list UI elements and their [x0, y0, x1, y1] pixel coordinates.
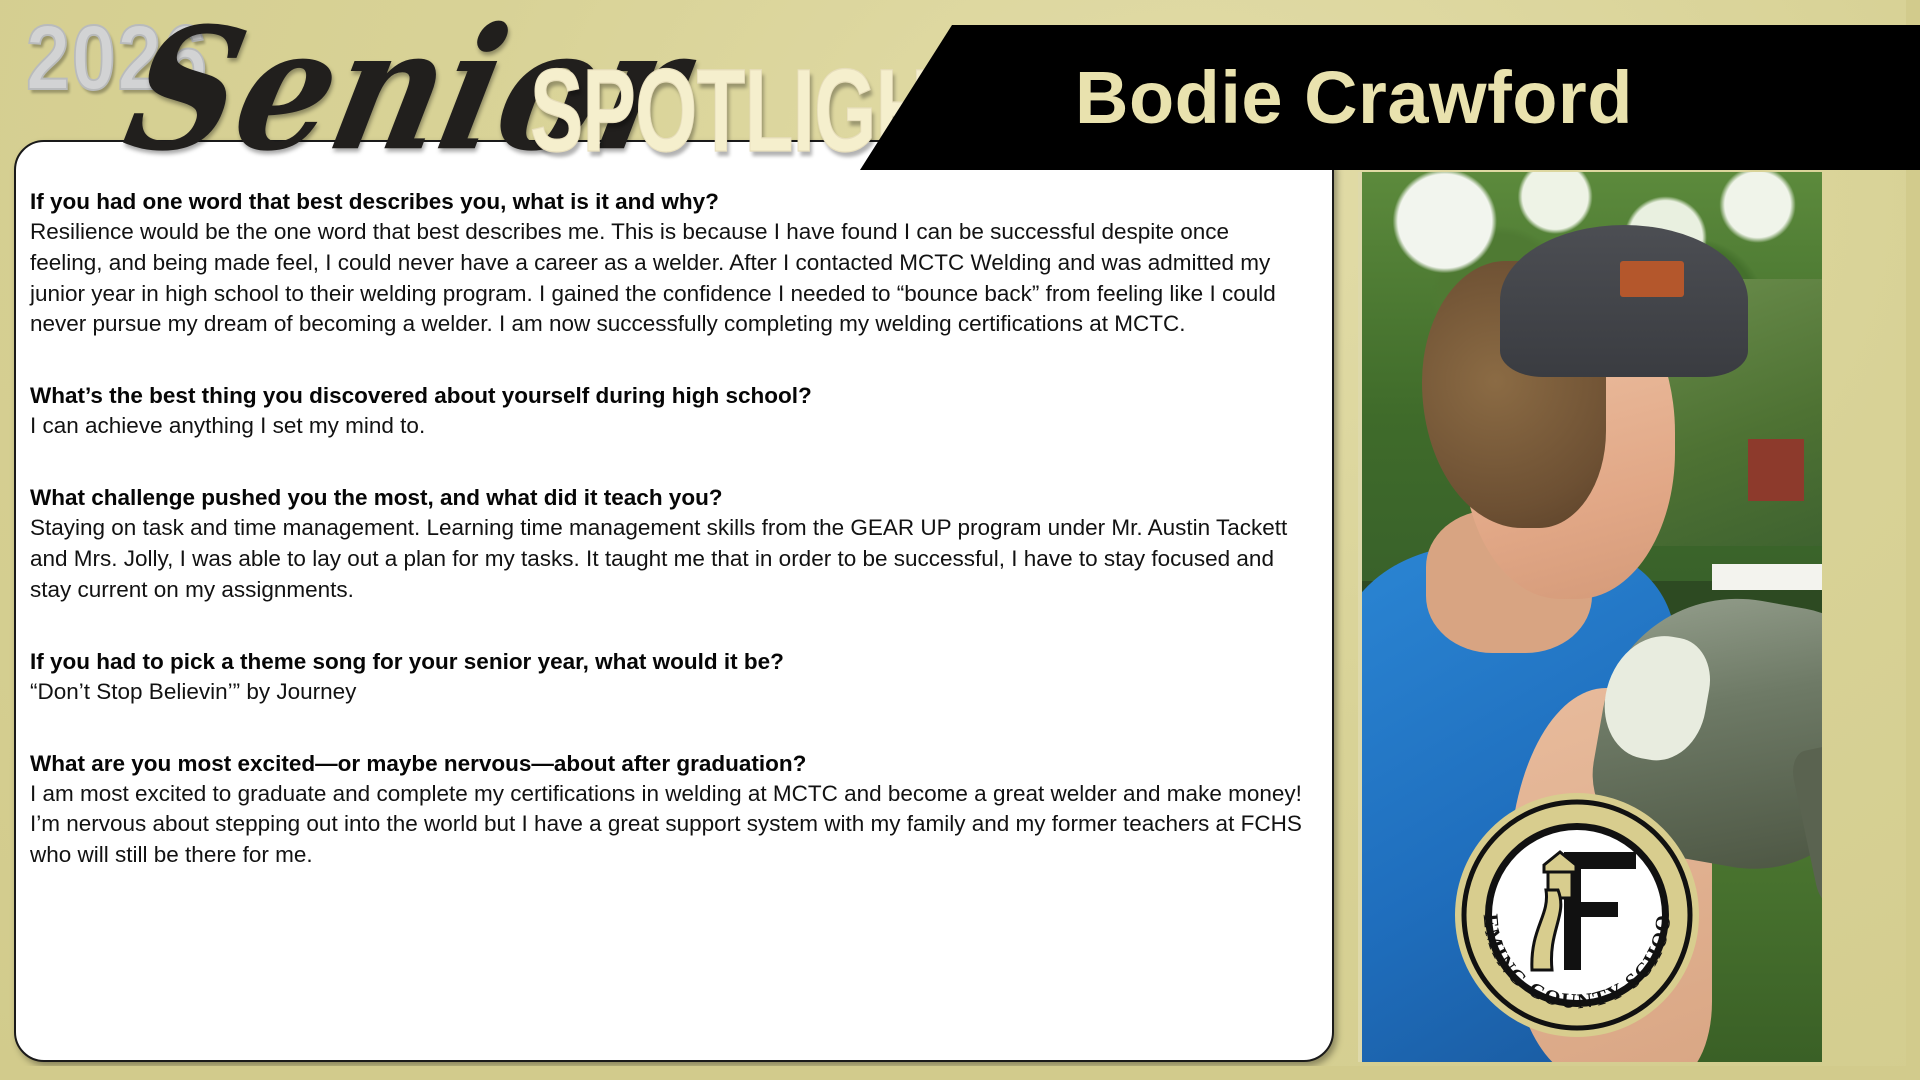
qa-block: What are you most excited—or maybe nervo… [30, 748, 1302, 871]
fleming-county-schools-logo: FLEMING COUNTY SCHOOLS [1452, 790, 1702, 1040]
frame-right-edge [1906, 0, 1920, 1080]
student-name: Bodie Crawford [1075, 55, 1633, 140]
photo-barn [1748, 439, 1803, 501]
qa-spacer [30, 714, 1302, 748]
qa-question: If you had to pick a theme song for your… [30, 646, 1302, 677]
qa-spacer [30, 346, 1302, 380]
senior-spotlight-poster: 2026 Senior SPOTLIGHT Bodie Crawford If … [0, 0, 1920, 1080]
photo-baseball-cap [1500, 225, 1748, 376]
qa-question: What are you most excited—or maybe nervo… [30, 748, 1302, 779]
photo-fence [1712, 564, 1822, 591]
qa-question: What challenge pushed you the most, and … [30, 482, 1302, 513]
qa-spacer [30, 448, 1302, 482]
qa-card: If you had one word that best describes … [14, 140, 1334, 1062]
photo-cap-patch [1620, 261, 1684, 297]
qa-block: If you had one word that best describes … [30, 186, 1302, 340]
qa-list: If you had one word that best describes … [16, 142, 1332, 1060]
qa-answer: I am most excited to graduate and comple… [30, 779, 1302, 871]
qa-answer: “Don’t Stop Believin’” by Journey [30, 677, 1302, 708]
frame-bottom-edge [0, 1066, 1920, 1080]
qa-answer: Staying on task and time management. Lea… [30, 513, 1302, 605]
qa-question: If you had one word that best describes … [30, 186, 1302, 217]
qa-question: What’s the best thing you discovered abo… [30, 380, 1302, 411]
qa-spacer [30, 612, 1302, 646]
qa-block: If you had to pick a theme song for your… [30, 646, 1302, 708]
qa-block: What’s the best thing you discovered abo… [30, 380, 1302, 442]
graduation-year: 2026 [26, 12, 209, 104]
qa-answer: Resilience would be the one word that be… [30, 217, 1302, 340]
qa-block: What challenge pushed you the most, and … [30, 482, 1302, 605]
qa-answer: I can achieve anything I set my mind to. [30, 411, 1302, 442]
